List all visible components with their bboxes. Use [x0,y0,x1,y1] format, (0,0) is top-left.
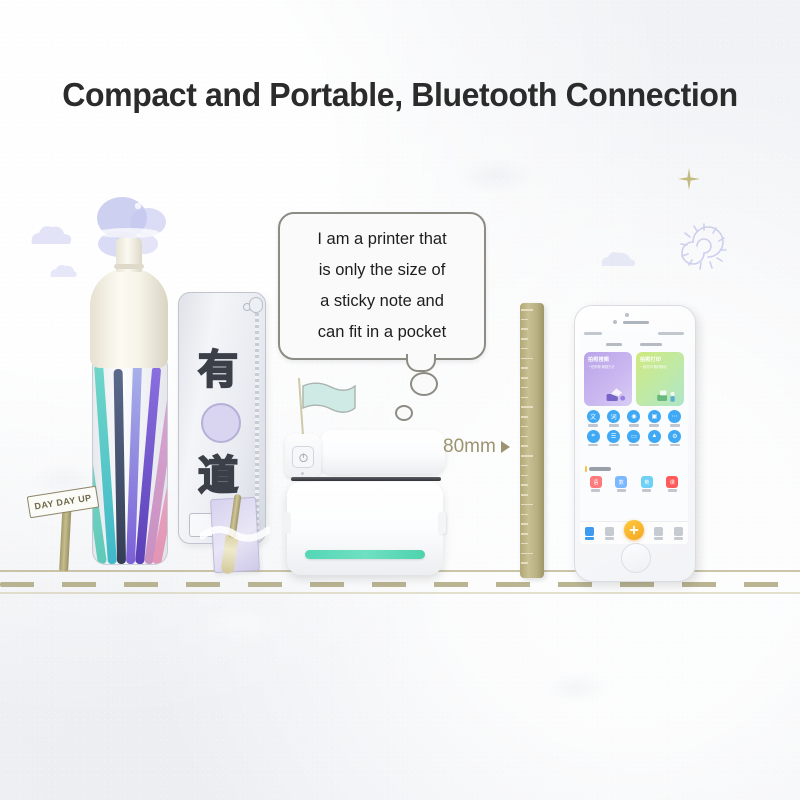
status-led [301,472,304,475]
tab-home[interactable] [585,527,594,540]
subject-label [668,489,677,492]
ribbon-decor [200,520,270,546]
card-illustration [653,384,681,404]
bubble-line: I am a printer that [278,224,486,255]
app-icon-grid: 文词◉▣⋯⌗☰▭▲⚙ [584,410,684,446]
subject-math-icon: 数 [615,476,627,488]
icon-label [629,444,639,447]
camera-icon[interactable]: ◉ [625,410,643,427]
dictionary-icon-glyph: 词 [607,410,620,423]
translate-icon[interactable]: 文 [584,410,602,427]
icon-label [629,424,639,427]
power-icon [298,452,309,463]
tab-label [585,537,594,540]
subject-english-icon: 英 [641,476,653,488]
scan-icon[interactable]: ⌗ [584,430,602,447]
ruler-tick [521,367,528,369]
page-title: Compact and Portable, Bluetooth Connecti… [12,76,788,114]
ruler-tick [521,309,533,311]
subject-label [642,489,651,492]
ruler-tick [521,553,533,555]
bottle-pen-holder [88,238,170,568]
thought-dot-large [410,372,438,396]
ruler-tick [521,475,528,477]
ground-line-secondary [0,592,800,594]
icon-label [609,444,619,447]
ruler-tick [521,533,528,535]
card-photo-print[interactable]: 拍照打印 一键打印 随时随地 [636,352,684,406]
flag-icon [301,380,357,425]
app-tab-left[interactable] [606,343,622,347]
status-left [584,332,602,335]
subject-math[interactable]: 数 [610,476,634,492]
ruler-tick [521,504,533,506]
ruler-tick [521,465,528,467]
plus-icon [629,525,639,535]
book-icon[interactable]: ☰ [604,430,622,447]
add-button[interactable] [624,520,644,540]
ruler-tick [521,445,528,447]
feature-cards: 拍照搜题 一拍即得 解题方法 拍照打印 一键打印 随时随地 [584,352,684,406]
tab-profile[interactable] [674,527,683,540]
product-banner: Compact and Portable, Bluetooth Connecti… [0,0,800,800]
printer-latch-left [283,512,291,534]
speech-bubble-text: I am a printer that is only the size of … [278,224,486,348]
tab-label [674,537,683,540]
ruler-tick [521,338,528,340]
app-header [580,340,688,349]
icon-label [670,424,680,427]
section-accent [585,466,587,472]
icon-label [670,444,680,447]
ruler-tick [521,319,528,321]
card-title: 拍照搜题 [588,356,628,363]
photo-icon-glyph: ▣ [648,410,661,423]
ruler-tick [521,397,528,399]
speech-bubble: I am a printer that is only the size of … [278,212,486,360]
arrow-right-icon [501,441,510,453]
case-emblem-icon [201,403,241,443]
smartphone: 拍照搜题 一拍即得 解题方法 拍照打印 一键打印 随时随地 [574,305,696,582]
sensor-icon [613,320,617,324]
ruler-tick [521,406,533,408]
printer-accent-bar [305,550,425,559]
image-icon[interactable]: ▲ [645,430,663,447]
ruler-tick [521,523,528,525]
pen [114,369,126,564]
printer-side-panel [285,434,321,478]
ruler-tick [521,514,528,516]
section-header [585,466,611,472]
earpiece-speaker [623,321,649,324]
ruler-tick [521,358,533,360]
subject-chinese[interactable]: 语 [584,476,608,492]
case-character-bottom: 道 [191,443,245,501]
power-button[interactable] [292,446,314,468]
printer-icon [605,527,614,536]
home-icon [585,527,594,536]
ruler-tick [521,348,528,350]
case-character-top: 有 [191,337,245,395]
ruler-tick [521,562,528,564]
bubble-line: a sticky note and [278,286,486,317]
ruler-tick [521,387,528,389]
mini-printer [285,430,445,575]
icon-label [588,424,598,427]
ruler-tick [521,328,528,330]
icon-label [649,444,659,447]
ruler-tick [521,494,528,496]
cloud-icon-small-mid [46,262,80,285]
ruler-tick [521,426,528,428]
phone-screen: 拍照搜题 一拍即得 解题方法 拍照打印 一键打印 随时随地 [580,330,688,544]
bottom-tab-bar [580,521,688,544]
subject-list: 语数英课 [584,476,684,492]
tab-print[interactable] [605,527,614,540]
ruler-tick [521,543,528,545]
dimension-label: 80mm [443,436,510,458]
card-subtitle: 一拍即得 解题方法 [588,364,628,369]
icon-label [649,424,659,427]
status-right [658,332,684,335]
bottle-upper [90,268,168,368]
thought-dot-small [395,405,413,421]
ruler-tick [521,455,533,457]
tab-label [654,537,663,540]
cloud-icon-right [596,248,640,275]
printer-body [287,482,443,575]
card-title: 拍照打印 [640,356,680,363]
bottle-body [92,358,168,565]
translate-icon-glyph: 文 [587,410,600,423]
tab-discover[interactable] [654,527,663,540]
subject-label [591,489,600,492]
printer-lid [320,430,445,474]
dimension-value: 80mm [443,436,496,458]
front-camera-icon [625,313,629,317]
tools-icon-glyph: ⚙ [668,430,681,443]
subject-english[interactable]: 英 [635,476,659,492]
road-dashes [0,582,800,587]
tools-icon[interactable]: ⚙ [666,430,684,447]
subject-chinese-icon: 语 [590,476,602,488]
photo-icon[interactable]: ▣ [645,410,663,427]
more-icon-glyph: ⋯ [668,410,681,423]
icon-label [588,444,598,447]
ruler-tick [521,436,528,438]
speech-bubble-tail [406,354,436,372]
ruler-tick [521,377,528,379]
subject-label [617,489,626,492]
bubble-line: can fit in a pocket [278,317,486,348]
card-photo-search[interactable]: 拍照搜题 一拍即得 解题方法 [584,352,632,406]
image-icon-glyph: ▲ [648,430,661,443]
paper-slot [291,477,441,481]
app-tab-right[interactable] [640,343,662,347]
icon-label [609,424,619,427]
status-bar [580,330,688,338]
zipper-pull-icon [249,297,263,313]
ruler-tick [521,484,528,486]
dictionary-icon[interactable]: 词 [604,410,622,427]
ruler-tick [521,416,528,418]
card-subtitle: 一键打印 随时随地 [640,364,680,369]
signpost: DAY DAY UP [28,487,98,572]
bottle-ring [114,264,144,269]
section-title-text [589,467,611,471]
ruler-ticks [520,309,544,572]
folder-icon-glyph: ▭ [627,430,640,443]
profile-icon [674,527,683,536]
printer-latch-right [438,512,446,534]
sparkle-icon [678,168,700,195]
ruler [520,303,544,578]
subject-more-icon: 课 [666,476,678,488]
cloud-icon-small-left [24,222,76,253]
discover-icon [654,527,663,536]
scan-icon-glyph: ⌗ [587,430,600,443]
bubble-line: is only the size of [278,255,486,286]
camera-icon-glyph: ◉ [627,410,640,423]
tab-label [605,537,614,540]
subject-more[interactable]: 课 [661,476,685,492]
sun-icon [676,216,732,277]
more-icon[interactable]: ⋯ [666,410,684,427]
book-icon-glyph: ☰ [607,430,620,443]
card-illustration [601,384,629,404]
home-button[interactable] [621,543,651,573]
folder-icon[interactable]: ▭ [625,430,643,447]
